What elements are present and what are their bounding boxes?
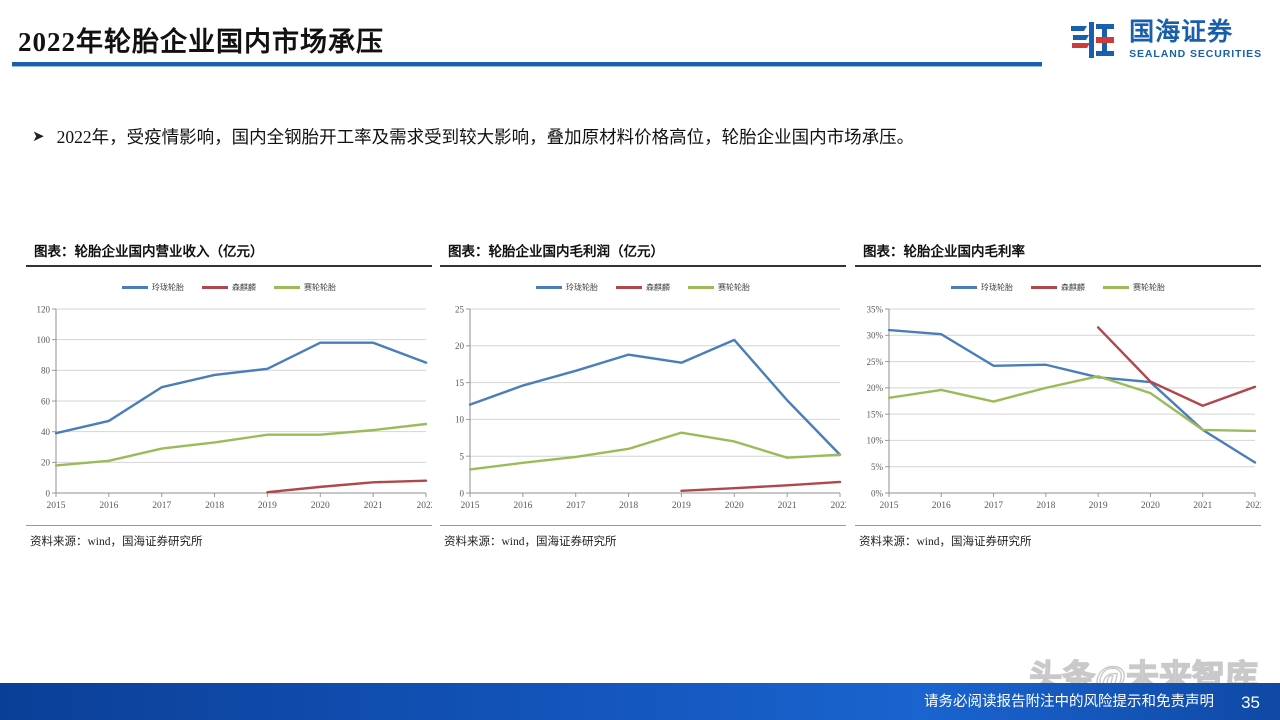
legend-item: 森麒麟 (202, 282, 256, 293)
svg-text:120: 120 (37, 304, 51, 314)
svg-text:2020: 2020 (311, 501, 330, 511)
svg-text:5%: 5% (871, 462, 884, 472)
logo-text-cn: 国海证券 (1129, 20, 1262, 45)
chart-panel-gross-profit: 图表：轮胎企业国内毛利润（亿元） 玲珑轮胎森麒麟赛轮轮胎 05101520252… (440, 240, 846, 562)
legend-label: 玲珑轮胎 (566, 282, 598, 293)
svg-text:15: 15 (455, 377, 465, 387)
svg-text:2019: 2019 (258, 501, 277, 511)
chart-panel-revenue: 图表：轮胎企业国内营业收入（亿元） 玲珑轮胎森麒麟赛轮轮胎 0204060801… (26, 240, 432, 562)
chart-panel-gross-margin: 图表：轮胎企业国内毛利率 玲珑轮胎森麒麟赛轮轮胎 0%5%10%15%20%25… (855, 240, 1261, 562)
chart-title: 图表：轮胎企业国内毛利润（亿元） (440, 240, 846, 265)
chart-plot-area: 0204060801001202015201620172018201920202… (26, 301, 432, 519)
svg-text:2020: 2020 (1141, 501, 1160, 511)
footer-disclaimer: 请务必阅读报告附注中的风险提示和免责声明 (924, 690, 1214, 711)
legend-swatch-icon (202, 286, 228, 289)
svg-text:40: 40 (41, 427, 51, 437)
svg-text:80: 80 (41, 365, 51, 375)
chart-legend: 玲珑轮胎森麒麟赛轮轮胎 (440, 281, 846, 295)
legend-label: 赛轮轮胎 (1133, 282, 1165, 293)
legend-item: 森麒麟 (616, 282, 670, 293)
sealand-logo-icon (1069, 18, 1121, 62)
svg-text:0%: 0% (871, 488, 884, 498)
legend-item: 赛轮轮胎 (688, 282, 750, 293)
legend-swatch-icon (536, 286, 562, 289)
svg-text:20: 20 (41, 457, 51, 467)
svg-text:2021: 2021 (1193, 501, 1212, 511)
slide: 2022年轮胎企业国内市场承压 国海证券 SEAL (0, 0, 1280, 720)
svg-text:10%: 10% (867, 435, 884, 445)
brand-logo: 国海证券 SEALAND SECURITIES (1069, 18, 1262, 62)
svg-text:20%: 20% (867, 383, 884, 393)
svg-text:2018: 2018 (619, 501, 638, 511)
legend-label: 森麒麟 (232, 282, 256, 293)
legend-label: 森麒麟 (646, 282, 670, 293)
svg-text:2017: 2017 (566, 501, 585, 511)
logo-text-en: SEALAND SECURITIES (1129, 49, 1262, 60)
svg-text:2021: 2021 (364, 501, 383, 511)
chart-legend: 玲珑轮胎森麒麟赛轮轮胎 (26, 281, 432, 295)
chart-title: 图表：轮胎企业国内毛利率 (855, 240, 1261, 265)
chart-legend: 玲珑轮胎森麒麟赛轮轮胎 (855, 281, 1261, 295)
bullet-row: ➤ 2022年，受疫情影响，国内全钢胎开工率及需求受到较大影响，叠加原材料价格高… (32, 126, 1257, 150)
svg-text:25: 25 (455, 304, 465, 314)
svg-text:0: 0 (46, 488, 51, 498)
legend-item: 森麒麟 (1031, 282, 1085, 293)
page-title: 2022年轮胎企业国内市场承压 (18, 20, 384, 59)
bullet-text: 2022年，受疫情影响，国内全钢胎开工率及需求受到较大影响，叠加原材料价格高位，… (57, 126, 915, 150)
chart-source: 资料来源：wind，国海证券研究所 (440, 526, 846, 549)
legend-item: 赛轮轮胎 (274, 282, 336, 293)
svg-text:15%: 15% (867, 409, 884, 419)
chart-source: 资料来源：wind，国海证券研究所 (26, 526, 432, 549)
chart-title-rule (26, 265, 432, 267)
legend-swatch-icon (616, 286, 642, 289)
svg-text:100: 100 (37, 335, 51, 345)
legend-item: 玲珑轮胎 (536, 282, 598, 293)
svg-text:20: 20 (455, 341, 465, 351)
svg-text:0: 0 (460, 488, 465, 498)
bullet-arrow-icon: ➤ (32, 126, 45, 146)
svg-text:10: 10 (455, 414, 465, 424)
chart-title-rule (440, 265, 846, 267)
legend-swatch-icon (274, 286, 300, 289)
legend-item: 玲珑轮胎 (951, 282, 1013, 293)
chart-title-rule (855, 265, 1261, 267)
svg-text:2019: 2019 (672, 501, 691, 511)
svg-text:35%: 35% (867, 304, 884, 314)
svg-text:2015: 2015 (47, 501, 66, 511)
chart-plot-area: 0%5%10%15%20%25%30%35%201520162017201820… (855, 301, 1261, 519)
svg-text:2022: 2022 (417, 501, 433, 511)
svg-text:30%: 30% (867, 330, 884, 340)
chart-title: 图表：轮胎企业国内营业收入（亿元） (26, 240, 432, 265)
legend-label: 森麒麟 (1061, 282, 1085, 293)
legend-item: 玲珑轮胎 (122, 282, 184, 293)
legend-swatch-icon (1031, 286, 1057, 289)
svg-text:60: 60 (41, 396, 51, 406)
svg-text:2016: 2016 (99, 501, 118, 511)
svg-text:5: 5 (460, 451, 465, 461)
svg-text:2016: 2016 (513, 501, 532, 511)
legend-label: 赛轮轮胎 (718, 282, 750, 293)
svg-text:2017: 2017 (984, 501, 1003, 511)
legend-label: 赛轮轮胎 (304, 282, 336, 293)
chart-source: 资料来源：wind，国海证券研究所 (855, 526, 1261, 549)
svg-text:2019: 2019 (1089, 501, 1108, 511)
legend-swatch-icon (122, 286, 148, 289)
chart-plot-area: 0510152025201520162017201820192020202120… (440, 301, 846, 519)
svg-text:2021: 2021 (778, 501, 797, 511)
svg-text:2016: 2016 (932, 501, 951, 511)
legend-label: 玲珑轮胎 (981, 282, 1013, 293)
svg-text:2020: 2020 (725, 501, 744, 511)
legend-swatch-icon (688, 286, 714, 289)
legend-swatch-icon (1103, 286, 1129, 289)
svg-text:2015: 2015 (880, 501, 899, 511)
title-divider-thin (12, 66, 1042, 67)
page-number: 35 (1241, 693, 1260, 713)
legend-label: 玲珑轮胎 (152, 282, 184, 293)
svg-text:25%: 25% (867, 356, 884, 366)
svg-text:2022: 2022 (831, 501, 847, 511)
legend-item: 赛轮轮胎 (1103, 282, 1165, 293)
svg-text:2022: 2022 (1246, 501, 1262, 511)
svg-text:2017: 2017 (152, 501, 171, 511)
legend-swatch-icon (951, 286, 977, 289)
svg-text:2018: 2018 (1036, 501, 1055, 511)
svg-text:2018: 2018 (205, 501, 224, 511)
svg-text:2015: 2015 (461, 501, 480, 511)
